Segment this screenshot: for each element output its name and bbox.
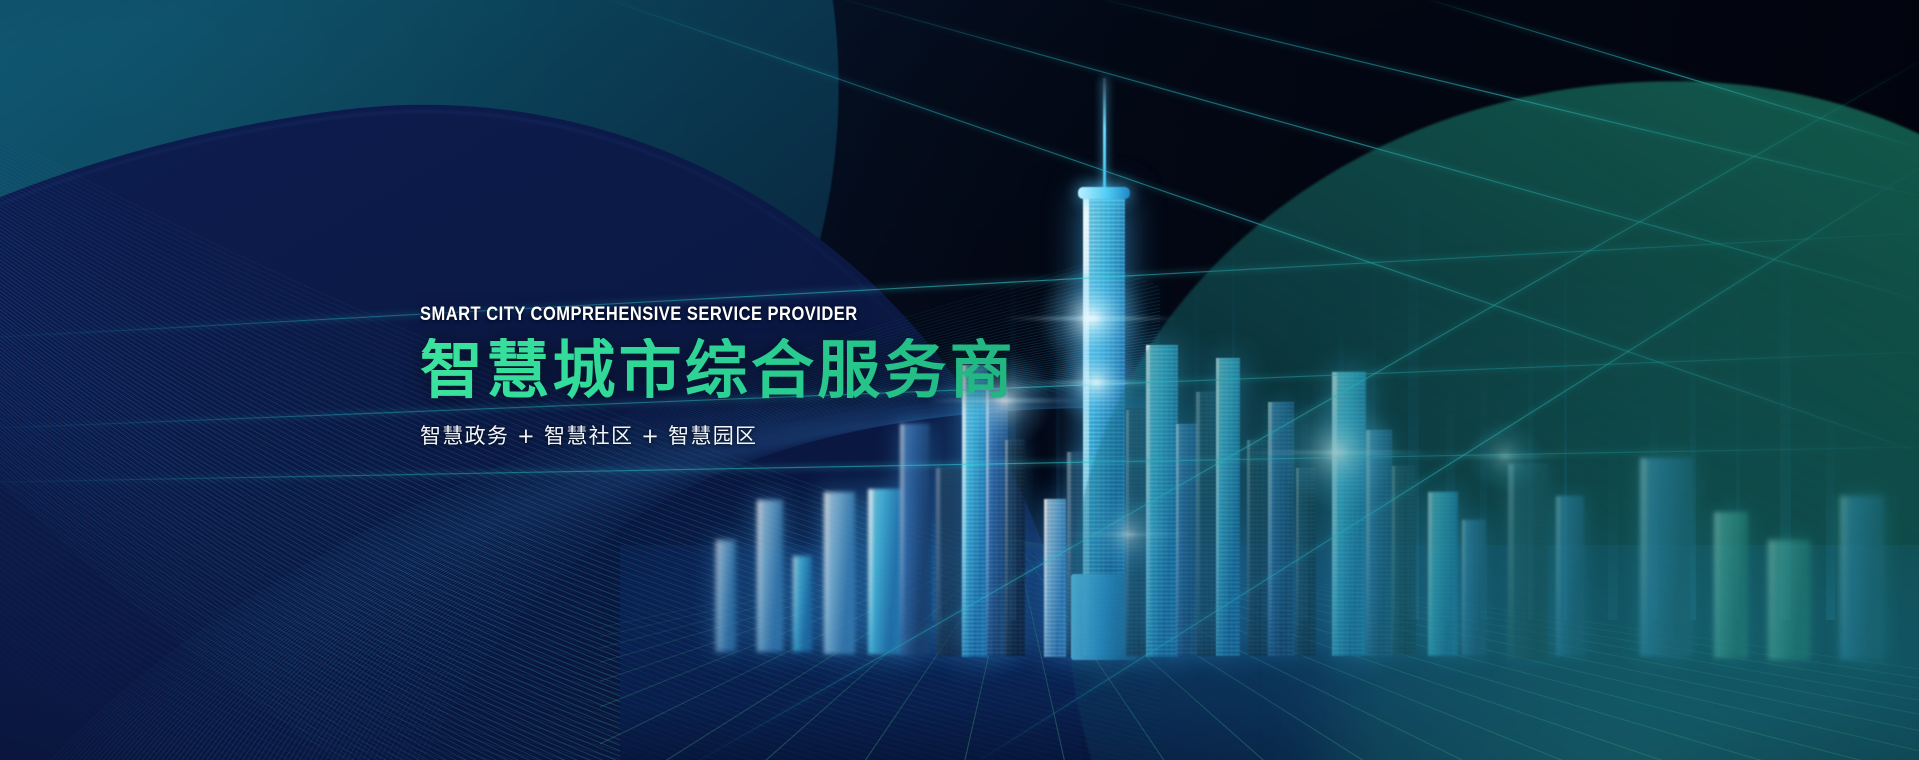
smart-city-banner: SMART CITY COMPREHENSIVE SERVICE PROVIDE…: [0, 0, 1919, 760]
eyebrow-english-tagline: SMART CITY COMPREHENSIVE SERVICE PROVIDE…: [420, 304, 1012, 325]
subtitle-services: 智慧政务 + 智慧社区 + 智慧园区: [420, 420, 1120, 450]
headline-text-block: SMART CITY COMPREHENSIVE SERVICE PROVIDE…: [420, 304, 1120, 450]
page-title: 智慧城市综合服务商: [420, 338, 1120, 404]
